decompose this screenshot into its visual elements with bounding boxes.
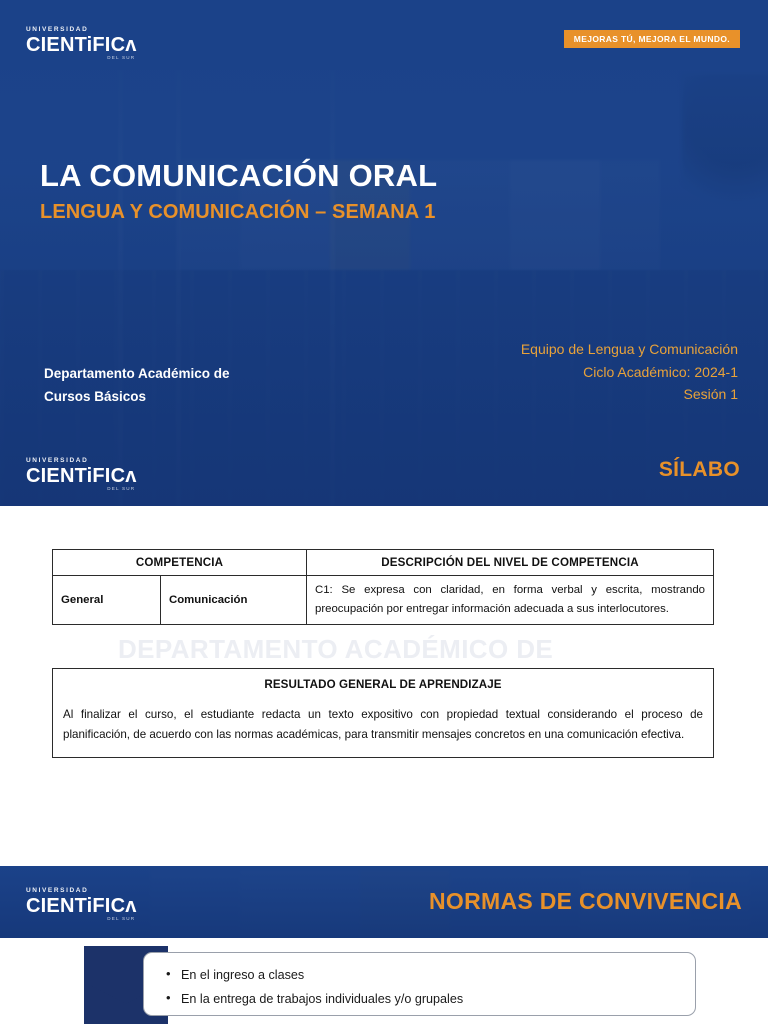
logo-wordmark: CIENTiFICʌ xyxy=(26,35,135,55)
brand-tagline-banner: MEJORAS TÚ, MEJORA EL MUNDO. xyxy=(564,30,740,48)
normas-section-title: NORMAS DE CONVIVENCIA xyxy=(429,888,742,915)
presentation-subtitle: LENGUA Y COMUNICACIÓN – SEMANA 1 xyxy=(40,201,435,224)
logo-supertitle: UNIVERSIDAD xyxy=(26,888,135,895)
logo-chevron-icon: ʌ xyxy=(125,34,135,56)
hero-slide: UNIVERSIDAD CIENTiFICʌ DEL SUR MEJORAS T… xyxy=(0,0,768,506)
learning-outcome-title: RESULTADO GENERAL DE APRENDIZAJE xyxy=(63,678,703,691)
background-watermark-text: DEPARTAMENTO ACADÉMICO DE xyxy=(118,634,553,665)
cell-competency-area: Comunicación xyxy=(161,576,307,625)
presentation-title: LA COMUNICACIÓN ORAL xyxy=(40,158,437,194)
learning-outcome-body: Al finalizar el curso, el estudiante red… xyxy=(63,705,703,745)
logo-wordmark: CIENTiFICʌ xyxy=(26,896,135,916)
universidad-cientifica-logo: UNIVERSIDAD CIENTiFICʌ DEL SUR xyxy=(26,27,135,60)
meta-team: Equipo de Lengua y Comunicación xyxy=(521,338,738,361)
table-row: General Comunicación C1: Se expresa con … xyxy=(53,576,714,625)
logo-chevron-icon: ʌ xyxy=(125,895,135,917)
list-item: En el ingreso a clases xyxy=(166,963,695,987)
universidad-cientifica-logo-normas: UNIVERSIDAD CIENTiFICʌ DEL SUR xyxy=(26,888,135,921)
logo-subtitle: DEL SUR xyxy=(26,487,135,492)
competency-table: COMPETENCIA DESCRIPCIÓN DEL NIVEL DE COM… xyxy=(52,549,714,625)
norms-list: En el ingreso a clases En la entrega de … xyxy=(166,963,695,1011)
learning-outcome-box: RESULTADO GENERAL DE APRENDIZAJE Al fina… xyxy=(52,668,714,758)
cell-competency-type: General xyxy=(53,576,161,625)
course-meta-block: Equipo de Lengua y Comunicación Ciclo Ac… xyxy=(521,338,738,406)
table-header-row: COMPETENCIA DESCRIPCIÓN DEL NIVEL DE COM… xyxy=(53,550,714,576)
slide-deck-page: UNIVERSIDAD CIENTiFICʌ DEL SUR MEJORAS T… xyxy=(0,0,768,1024)
meta-session: Sesión 1 xyxy=(521,383,738,406)
column-header-competencia: COMPETENCIA xyxy=(53,550,307,576)
meta-cycle: Ciclo Académico: 2024-1 xyxy=(521,361,738,384)
silabo-section-title: SÍLABO xyxy=(659,458,740,482)
logo-chevron-icon: ʌ xyxy=(125,465,135,487)
logo-subtitle: DEL SUR xyxy=(26,917,135,922)
logo-supertitle: UNIVERSIDAD xyxy=(26,27,135,34)
norms-list-box: En el ingreso a clases En la entrega de … xyxy=(143,952,696,1016)
department-line-1: Departamento Académico de xyxy=(44,362,230,385)
cell-competency-description: C1: Se expresa con claridad, en forma ve… xyxy=(307,576,714,625)
blue-overlay-tint xyxy=(0,0,768,506)
list-item: En la entrega de trabajos individuales y… xyxy=(166,987,695,1011)
logo-supertitle: UNIVERSIDAD xyxy=(26,458,135,465)
column-header-descripcion: DESCRIPCIÓN DEL NIVEL DE COMPETENCIA xyxy=(307,550,714,576)
department-block: Departamento Académico de Cursos Básicos xyxy=(44,362,230,408)
universidad-cientifica-logo-silabo: UNIVERSIDAD CIENTiFICʌ DEL SUR xyxy=(26,458,135,491)
logo-subtitle: DEL SUR xyxy=(26,56,135,61)
department-line-2: Cursos Básicos xyxy=(44,385,230,408)
logo-wordmark: CIENTiFICʌ xyxy=(26,466,135,486)
